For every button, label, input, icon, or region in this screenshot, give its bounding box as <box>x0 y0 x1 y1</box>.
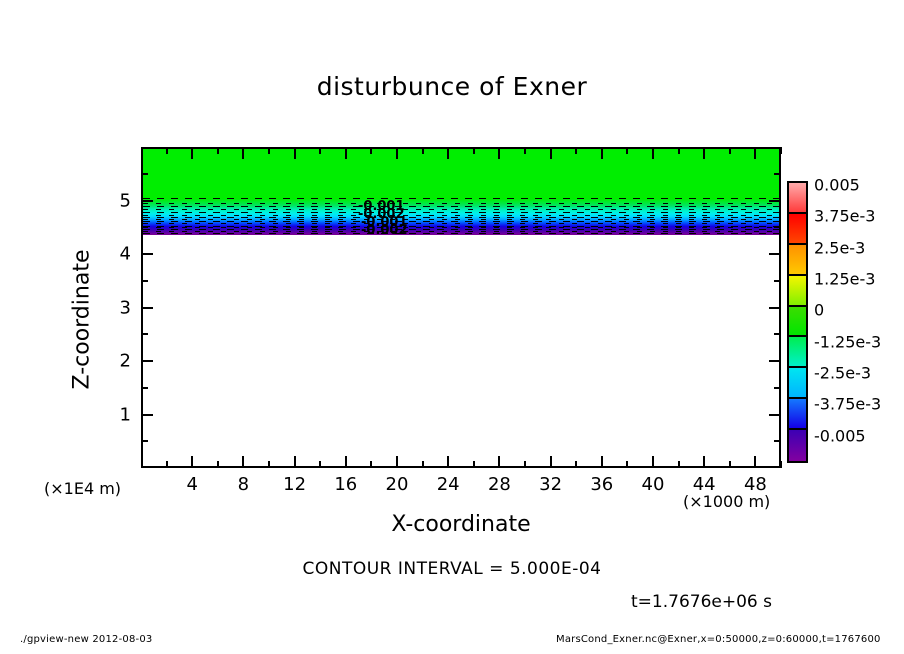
y-tick-label: 2 <box>105 351 131 372</box>
y-tick-mark <box>774 440 781 442</box>
x-tick-mark <box>166 147 168 154</box>
y-tick-mark <box>769 414 781 416</box>
x-tick-label: 16 <box>334 474 357 495</box>
x-tick-mark <box>191 456 193 468</box>
y-tick-label: 4 <box>105 244 131 265</box>
x-tick-mark <box>575 147 577 154</box>
y-tick-mark <box>141 360 153 362</box>
x-tick-mark <box>217 147 219 154</box>
footer-command-label: ./gpview-new 2012-08-03 <box>20 634 152 645</box>
colorbar-band <box>789 183 806 214</box>
y-tick-mark <box>774 280 781 282</box>
x-tick-mark <box>678 461 680 468</box>
y-tick-label: 3 <box>105 297 131 318</box>
x-tick-mark <box>575 461 577 468</box>
x-tick-mark <box>396 456 398 468</box>
y-tick-mark <box>141 414 153 416</box>
y-tick-label: 5 <box>105 190 131 211</box>
contour-line <box>143 227 779 228</box>
y-tick-mark <box>141 173 148 175</box>
contour-line <box>143 233 779 234</box>
x-tick-mark <box>729 461 731 468</box>
y-tick-mark <box>141 440 148 442</box>
x-tick-label: 40 <box>642 474 665 495</box>
x-tick-mark <box>422 147 424 154</box>
x-tick-mark <box>191 147 193 159</box>
colorbar-tick-label: -2.5e-3 <box>814 364 871 383</box>
x-tick-mark <box>524 147 526 154</box>
x-tick-mark <box>268 147 270 154</box>
x-tick-mark <box>396 147 398 159</box>
x-tick-label: 36 <box>590 474 613 495</box>
contour-value-label: -0.002 <box>361 223 408 235</box>
page-title: disturbunce of Exner <box>0 72 904 101</box>
x-tick-mark <box>780 461 782 468</box>
x-tick-mark <box>345 456 347 468</box>
x-tick-mark <box>652 456 654 468</box>
colorbar-band <box>789 245 806 276</box>
x-tick-mark <box>601 147 603 159</box>
x-tick-mark <box>626 147 628 154</box>
x-tick-mark <box>422 461 424 468</box>
x-tick-label: 32 <box>539 474 562 495</box>
contour-line <box>143 209 779 210</box>
colorbar-tick-label: -0.005 <box>814 426 866 445</box>
x-tick-mark <box>319 147 321 154</box>
x-tick-mark <box>294 456 296 468</box>
x-tick-mark <box>345 147 347 159</box>
x-tick-mark <box>678 147 680 154</box>
x-tick-mark <box>242 147 244 159</box>
y-tick-mark <box>769 253 781 255</box>
y-tick-mark <box>769 307 781 309</box>
colorbar-tick-label: 0 <box>814 301 824 320</box>
time-annotation: t=1.7676e+06 s <box>631 592 772 612</box>
colorbar-band <box>789 276 806 307</box>
x-tick-mark <box>780 147 782 154</box>
colorbar-tick-label: 3.75e-3 <box>814 207 875 226</box>
colorbar-band <box>789 399 806 430</box>
colorbar-tick-label: 0.005 <box>814 176 860 195</box>
x-tick-label: 20 <box>386 474 409 495</box>
y-tick-mark <box>141 333 148 335</box>
contour-line <box>143 215 779 216</box>
x-axis-unit-label: (×1000 m) <box>683 492 770 511</box>
footer-source-label: MarsCond_Exner.nc@Exner,x=0:50000,z=0:60… <box>556 634 881 645</box>
colorbar-tick-label: 2.5e-3 <box>814 238 865 257</box>
x-tick-mark <box>754 456 756 468</box>
contour-data-region: -0.001-0.002-0.001-0.002 <box>143 149 779 235</box>
contour-line <box>143 206 779 207</box>
contour-interval-annotation: CONTOUR INTERVAL = 5.000E-04 <box>0 559 904 579</box>
contour-line <box>143 203 779 204</box>
x-tick-mark <box>319 461 321 468</box>
y-axis-title: Z-coordinate <box>70 200 95 440</box>
x-tick-mark <box>754 147 756 159</box>
contour-line <box>143 217 779 218</box>
colorbar-tick-label: -1.25e-3 <box>814 332 881 351</box>
x-tick-mark <box>524 461 526 468</box>
x-tick-label: 8 <box>238 474 249 495</box>
y-tick-mark <box>141 307 153 309</box>
colorbar-band <box>789 337 806 368</box>
x-tick-mark <box>601 456 603 468</box>
x-tick-mark <box>498 456 500 468</box>
x-tick-mark <box>447 147 449 159</box>
x-tick-label: 24 <box>437 474 460 495</box>
y-tick-mark <box>774 333 781 335</box>
x-tick-mark <box>473 147 475 154</box>
x-tick-mark <box>652 147 654 159</box>
x-tick-mark <box>729 147 731 154</box>
x-tick-mark <box>703 147 705 159</box>
y-tick-mark <box>774 173 781 175</box>
x-tick-mark <box>166 461 168 468</box>
x-tick-mark <box>242 456 244 468</box>
x-tick-mark <box>550 147 552 159</box>
y-tick-mark <box>141 280 148 282</box>
colorbar-band <box>789 368 806 399</box>
y-tick-mark <box>774 387 781 389</box>
y-tick-mark <box>141 253 153 255</box>
x-tick-mark <box>268 461 270 468</box>
colorbar[interactable] <box>787 181 808 463</box>
colorbar-band <box>789 430 806 461</box>
x-tick-mark <box>217 461 219 468</box>
x-tick-mark <box>498 147 500 159</box>
contour-line <box>143 221 779 222</box>
y-tick-mark <box>141 226 148 228</box>
x-tick-mark <box>447 456 449 468</box>
x-tick-mark <box>370 147 372 154</box>
contour-line <box>143 226 779 227</box>
x-axis-title: X-coordinate <box>141 512 781 537</box>
x-tick-mark <box>626 461 628 468</box>
x-tick-mark <box>473 461 475 468</box>
contour-line <box>143 198 779 199</box>
x-tick-mark <box>703 456 705 468</box>
colorbar-tick-label: -3.75e-3 <box>814 395 881 414</box>
colorbar-band <box>789 307 806 338</box>
x-tick-label: 28 <box>488 474 511 495</box>
y-tick-mark <box>769 360 781 362</box>
y-tick-mark <box>141 387 148 389</box>
plot-area[interactable]: -0.001-0.002-0.001-0.002 <box>141 147 781 468</box>
y-tick-mark <box>769 200 781 202</box>
colorbar-tick-label: 1.25e-3 <box>814 270 875 289</box>
x-tick-mark <box>294 147 296 159</box>
x-tick-label: 12 <box>283 474 306 495</box>
y-tick-mark <box>774 226 781 228</box>
contour-line <box>143 223 779 224</box>
x-tick-mark <box>370 461 372 468</box>
x-tick-label: 4 <box>186 474 197 495</box>
contour-line <box>143 219 779 220</box>
y-tick-mark <box>141 200 153 202</box>
contour-line <box>143 212 779 213</box>
y-axis-unit-label: (×1E4 m) <box>44 479 121 498</box>
colorbar-band <box>789 214 806 245</box>
y-tick-label: 1 <box>105 404 131 425</box>
x-tick-mark <box>550 456 552 468</box>
